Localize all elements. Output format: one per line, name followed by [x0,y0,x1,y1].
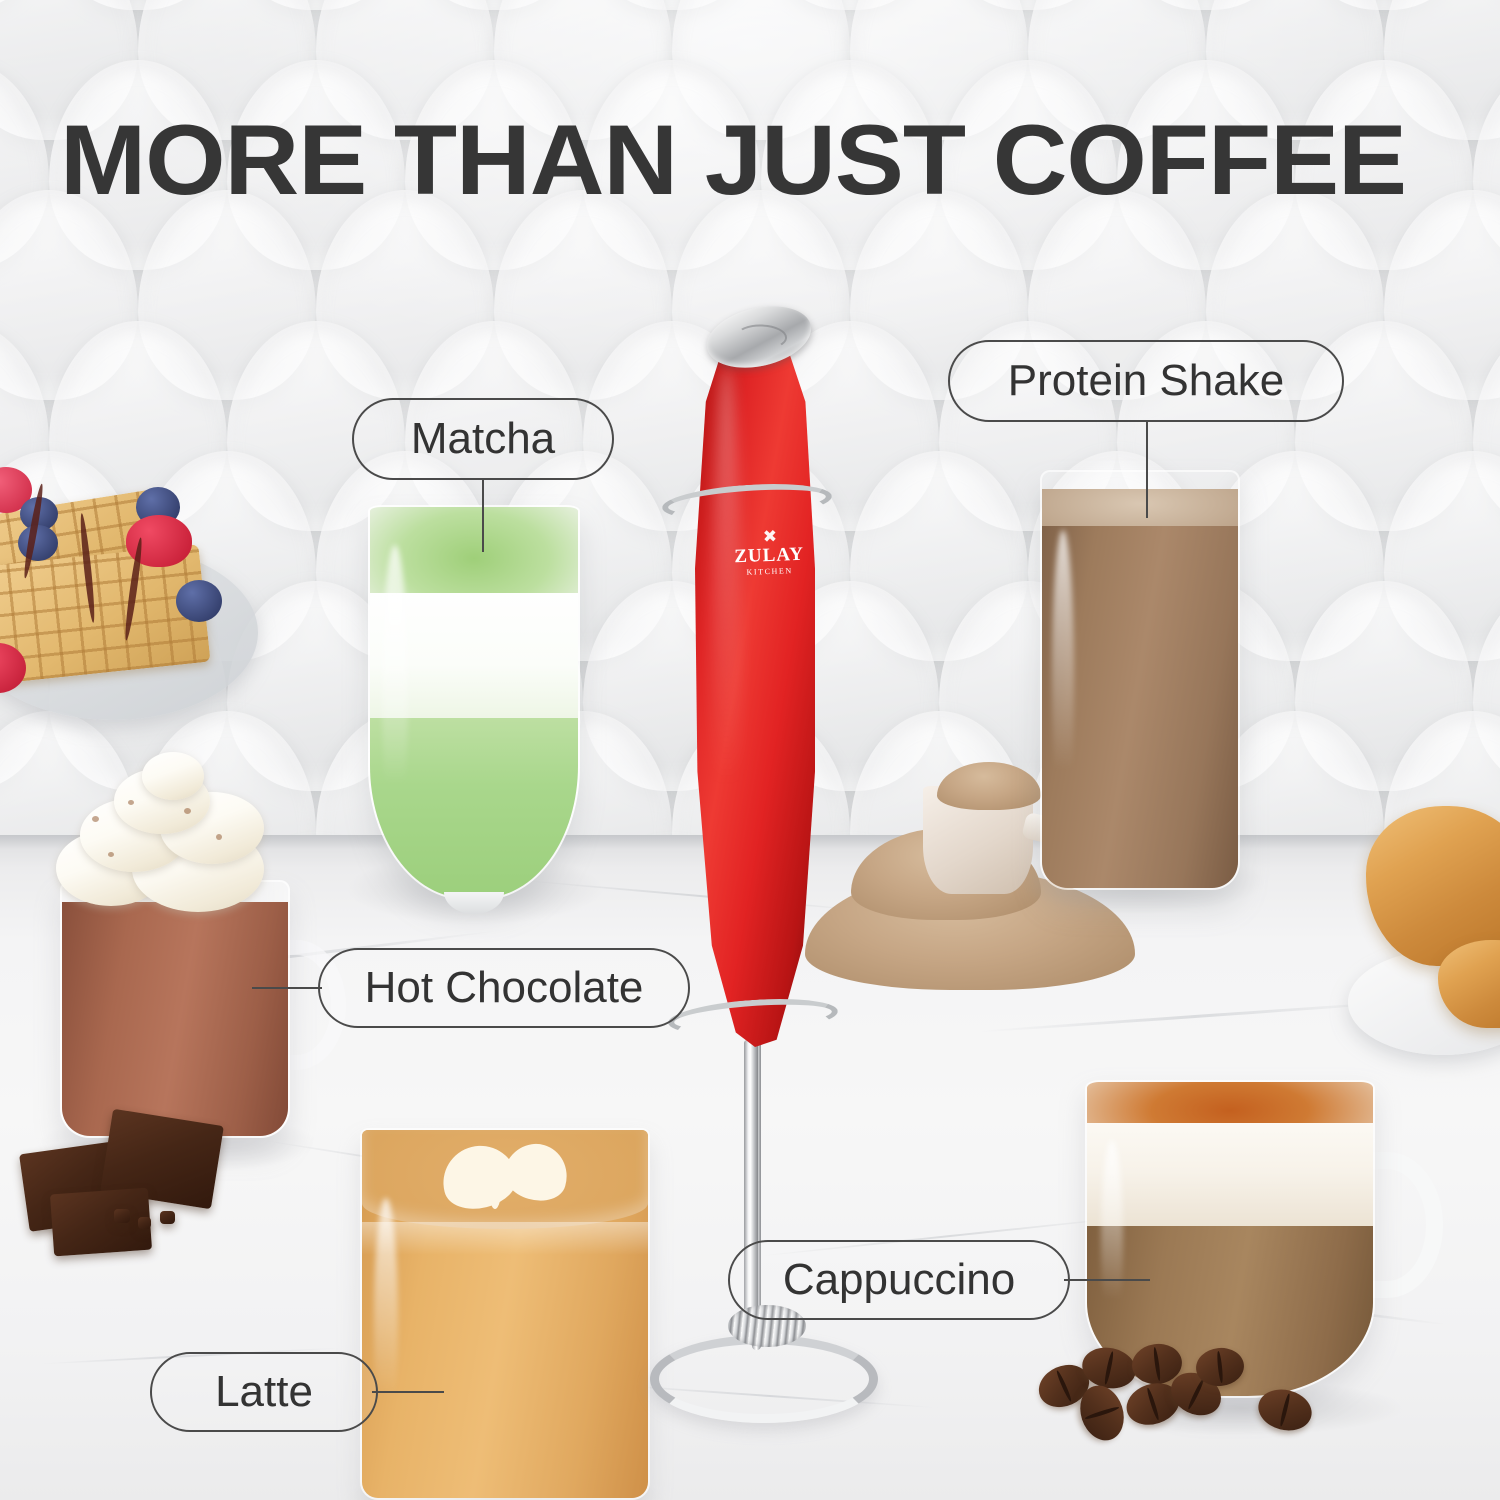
crossed-utensils-icon: ✖ [727,527,810,547]
milk-foam-layer [1087,1107,1373,1226]
callout-hot-chocolate[interactable]: Hot Chocolate [318,948,690,1028]
whipped-cream [56,768,294,918]
callout-latte[interactable]: Latte [150,1352,378,1432]
tumbler-glass [360,1128,650,1500]
chocolate-shaving [160,1211,175,1224]
callout-label: Hot Chocolate [365,963,644,1013]
cocoa-dust [128,800,134,805]
callout-cappuccino[interactable]: Cappuccino [728,1240,1070,1320]
double-wall-glass [368,505,580,900]
latte-art-leaf [499,1136,575,1207]
leader-line-matcha [482,480,484,552]
protein-shake-glass [1040,470,1240,890]
callout-label: Cappuccino [783,1255,1015,1305]
callout-protein-shake[interactable]: Protein Shake [948,340,1344,422]
matcha-glass [368,505,580,900]
chocolate-shaving [138,1217,151,1229]
matcha-liquid [370,710,578,898]
brand-name: ZULAY [728,544,811,569]
chocolate-shaving [114,1209,130,1223]
leader-line-cappuccino [1064,1279,1150,1281]
cocoa-dust [184,808,191,814]
frother-handle[interactable] [695,322,815,1047]
matcha-powder-top [370,507,578,593]
blueberry [18,525,58,561]
stand-clip-bottom [667,994,839,1040]
latte-surface [362,1130,648,1229]
cocoa-dust [92,816,99,822]
leader-line-protein-shake [1146,422,1148,518]
frother-stand-base [650,1335,878,1423]
brand-logo: ✖ ZULAY KITCHEN [727,527,811,578]
product-marketing-image: MORE THAN JUST COFFEE [0,0,1500,1500]
blueberry [176,580,222,622]
hot-chocolate-mug [48,760,333,1140]
tall-glass [1040,470,1240,890]
foam-rim [362,1222,648,1255]
coffee-bean [1254,1384,1316,1436]
chocolate-squares [18,1095,288,1280]
chocolate-piece [50,1188,152,1257]
milk-foam-layer [370,585,578,718]
croissant-plate [1352,800,1500,1050]
leader-line-hot-chocolate [252,987,322,989]
waffle [0,544,211,684]
cinnamon-dust [1087,1082,1373,1123]
callout-label: Latte [215,1367,313,1417]
shake-liquid [1042,509,1238,888]
cocoa-dust [216,834,222,840]
coffee-beans [1030,1330,1330,1470]
callout-label: Protein Shake [1008,356,1284,406]
callout-label: Matcha [411,414,555,464]
callout-matcha[interactable]: Matcha [352,398,614,480]
cream-peak [142,752,204,800]
latte-glass [360,1128,650,1500]
page-title: MORE THAN JUST COFFEE [60,110,1500,209]
leader-line-latte [372,1391,444,1393]
cocoa-dust [108,852,114,857]
powder-in-scoop [937,762,1041,810]
waffle-plate [0,425,253,725]
shake-froth [1042,489,1238,526]
